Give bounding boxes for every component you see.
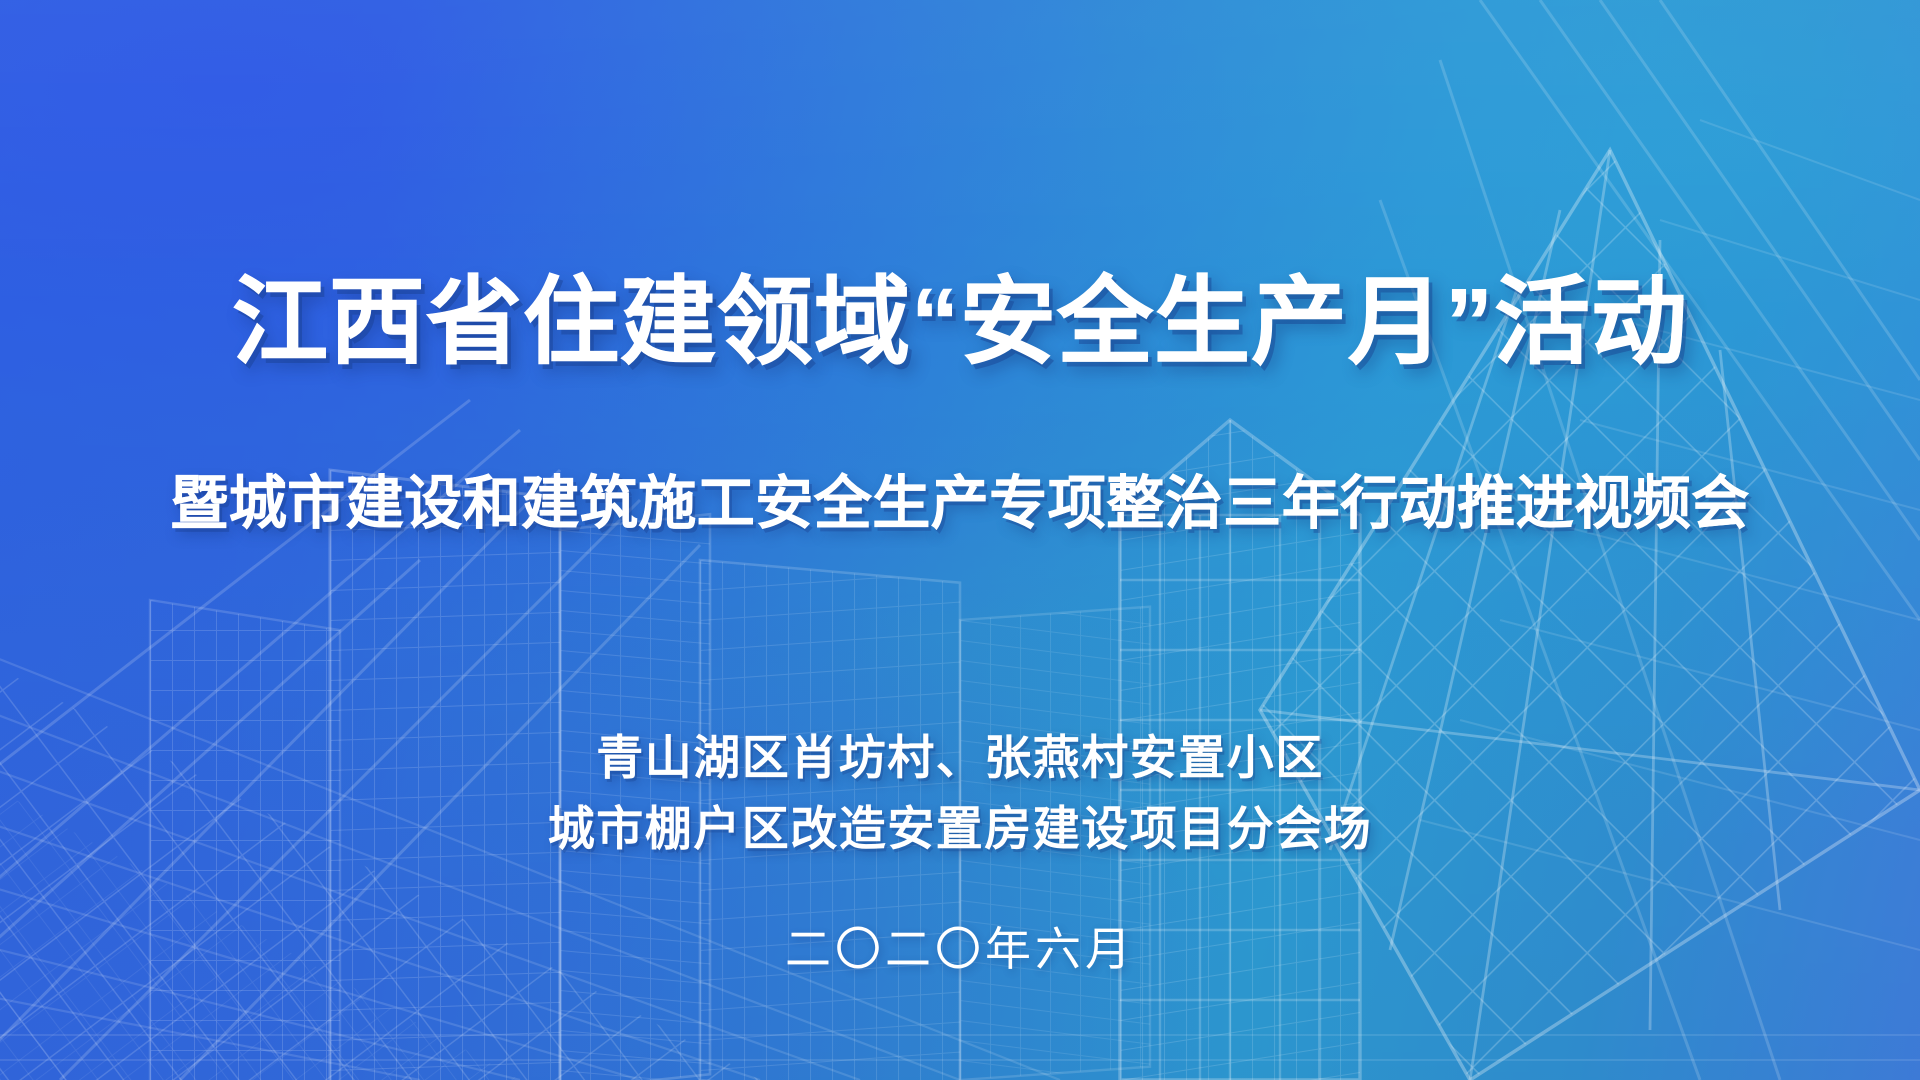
venue-line-1: 青山湖区肖坊村、张燕村安置小区 [0,722,1920,793]
venue-line-2: 城市棚户区改造安置房建设项目分会场 [0,793,1920,864]
venue-block: 青山湖区肖坊村、张燕村安置小区 城市棚户区改造安置房建设项目分会场 [0,722,1920,865]
conference-backdrop-slide: 江西省住建领域“安全生产月”活动 暨城市建设和建筑施工安全生产专项整治三年行动推… [0,0,1920,1080]
event-date: 二〇二〇年六月 [0,913,1920,979]
slide-text-content: 江西省住建领域“安全生产月”活动 暨城市建设和建筑施工安全生产专项整治三年行动推… [0,0,1920,1080]
page-subtitle: 暨城市建设和建筑施工安全生产专项整治三年行动推进视频会 [0,472,1920,536]
page-title: 江西省住建领域“安全生产月”活动 [0,272,1920,374]
